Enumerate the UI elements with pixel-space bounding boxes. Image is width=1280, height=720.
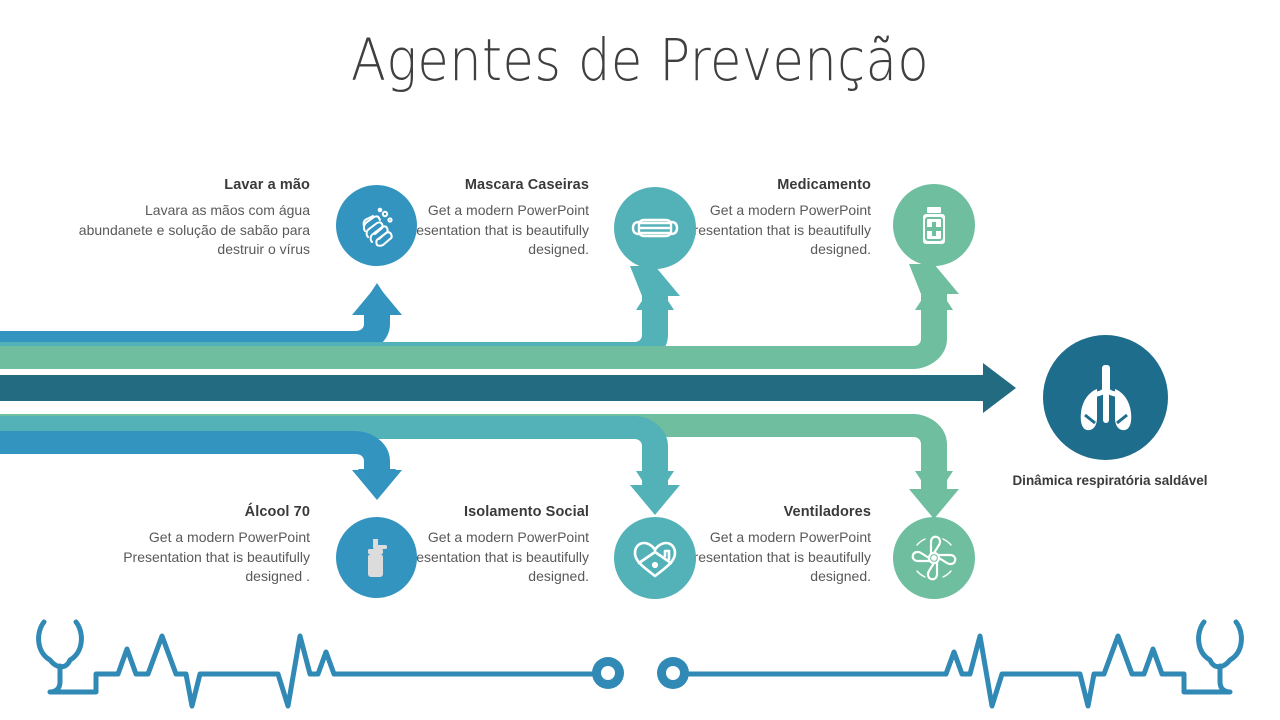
stethoscope-ecg-right [720,622,1241,706]
band-teal-down [0,416,680,515]
icon-circle-mascara-caseiras[interactable] [614,187,696,269]
fan-ventilator-icon [907,531,961,585]
lungs-icon [1063,355,1149,441]
ecg-node-right [657,657,720,689]
face-mask-icon [629,202,681,254]
item-block-lavar-a-mao: Lavar a mão Lavara as mãos com água abun… [78,176,310,260]
item-heading: Lavar a mão [78,176,310,194]
item-heading: Ventiladores [639,503,871,521]
washing-hands-icon [352,201,402,251]
item-body: Get a modern PowerPoint Presentation tha… [78,528,310,587]
icon-circle-ventiladores[interactable] [893,517,975,599]
sanitizer-dispenser-icon [354,535,400,581]
icon-circle-alcool-70[interactable] [336,517,417,598]
lungs-label: Dinâmica respiratória saldável [1010,472,1210,489]
heart-house-icon [629,532,681,584]
ribbon-bands [0,264,1016,519]
icon-circle-medicamento[interactable] [893,184,975,266]
band-green-up [0,264,959,369]
icon-circle-isolamento-social[interactable] [614,517,696,599]
ecg-decoration [39,622,1242,706]
arrowhead-up-blue [358,283,396,312]
icon-circle-lavar-a-mao[interactable] [336,185,417,266]
medicine-bottle-icon [911,202,957,248]
item-heading: Isolamento Social [357,503,589,521]
ecg-node-left [560,657,624,689]
icon-circle-lungs[interactable] [1043,335,1168,460]
band-center-arrow [0,363,1016,413]
slide-canvas: Agentes de Prevenção [0,0,1280,720]
item-block-alcool-70: Álcool 70 Get a modern PowerPoint Presen… [78,503,310,587]
band-blue-down [0,431,402,500]
item-heading: Álcool 70 [78,503,310,521]
item-body: Lavara as mãos com água abundanete e sol… [78,201,310,260]
stethoscope-ecg-left [39,622,560,706]
